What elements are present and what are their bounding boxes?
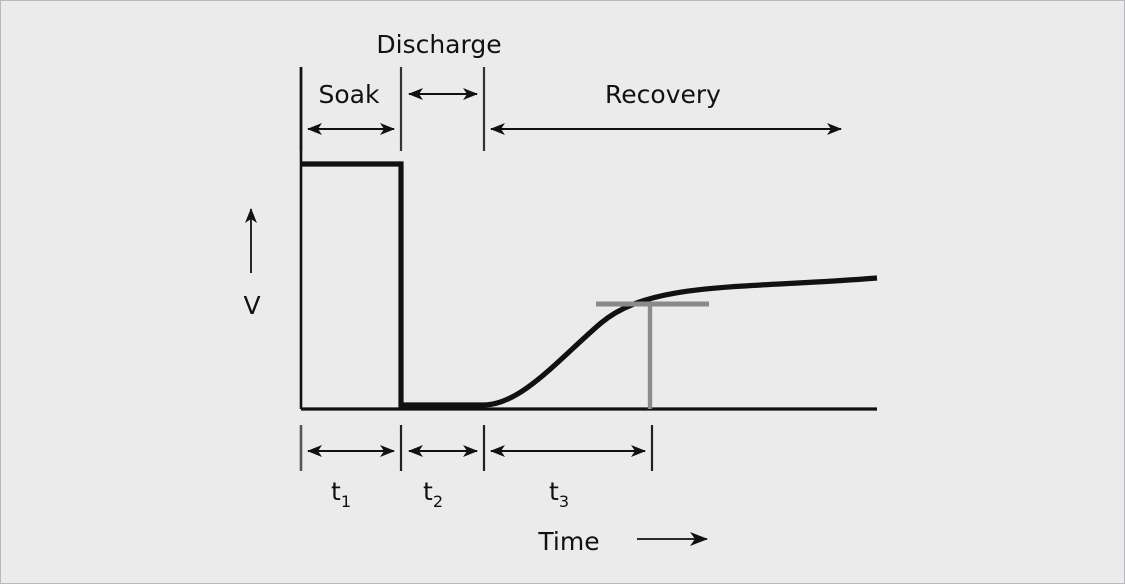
discharge-label: Discharge — [376, 30, 501, 59]
waveform-trace — [301, 164, 877, 405]
t3-label: t3 — [549, 477, 569, 511]
recovery-label: Recovery — [605, 80, 721, 109]
v-axis-label: V — [243, 291, 260, 320]
t1-label: t1 — [331, 477, 351, 511]
t2-label: t2 — [423, 477, 443, 511]
top-annotation-band: Soak Discharge Recovery — [301, 30, 841, 151]
asymptote-marker — [596, 304, 709, 409]
battery-pulse-waveform-figure: Soak Discharge Recovery V Time — [0, 0, 1125, 584]
bottom-interval-band: t1 t2 t3 — [301, 425, 652, 511]
soak-label: Soak — [319, 80, 380, 109]
waveform-diagram: Soak Discharge Recovery V Time — [1, 1, 1125, 584]
voltage-waveform-path — [301, 164, 877, 405]
time-axis-label: Time — [537, 527, 599, 556]
